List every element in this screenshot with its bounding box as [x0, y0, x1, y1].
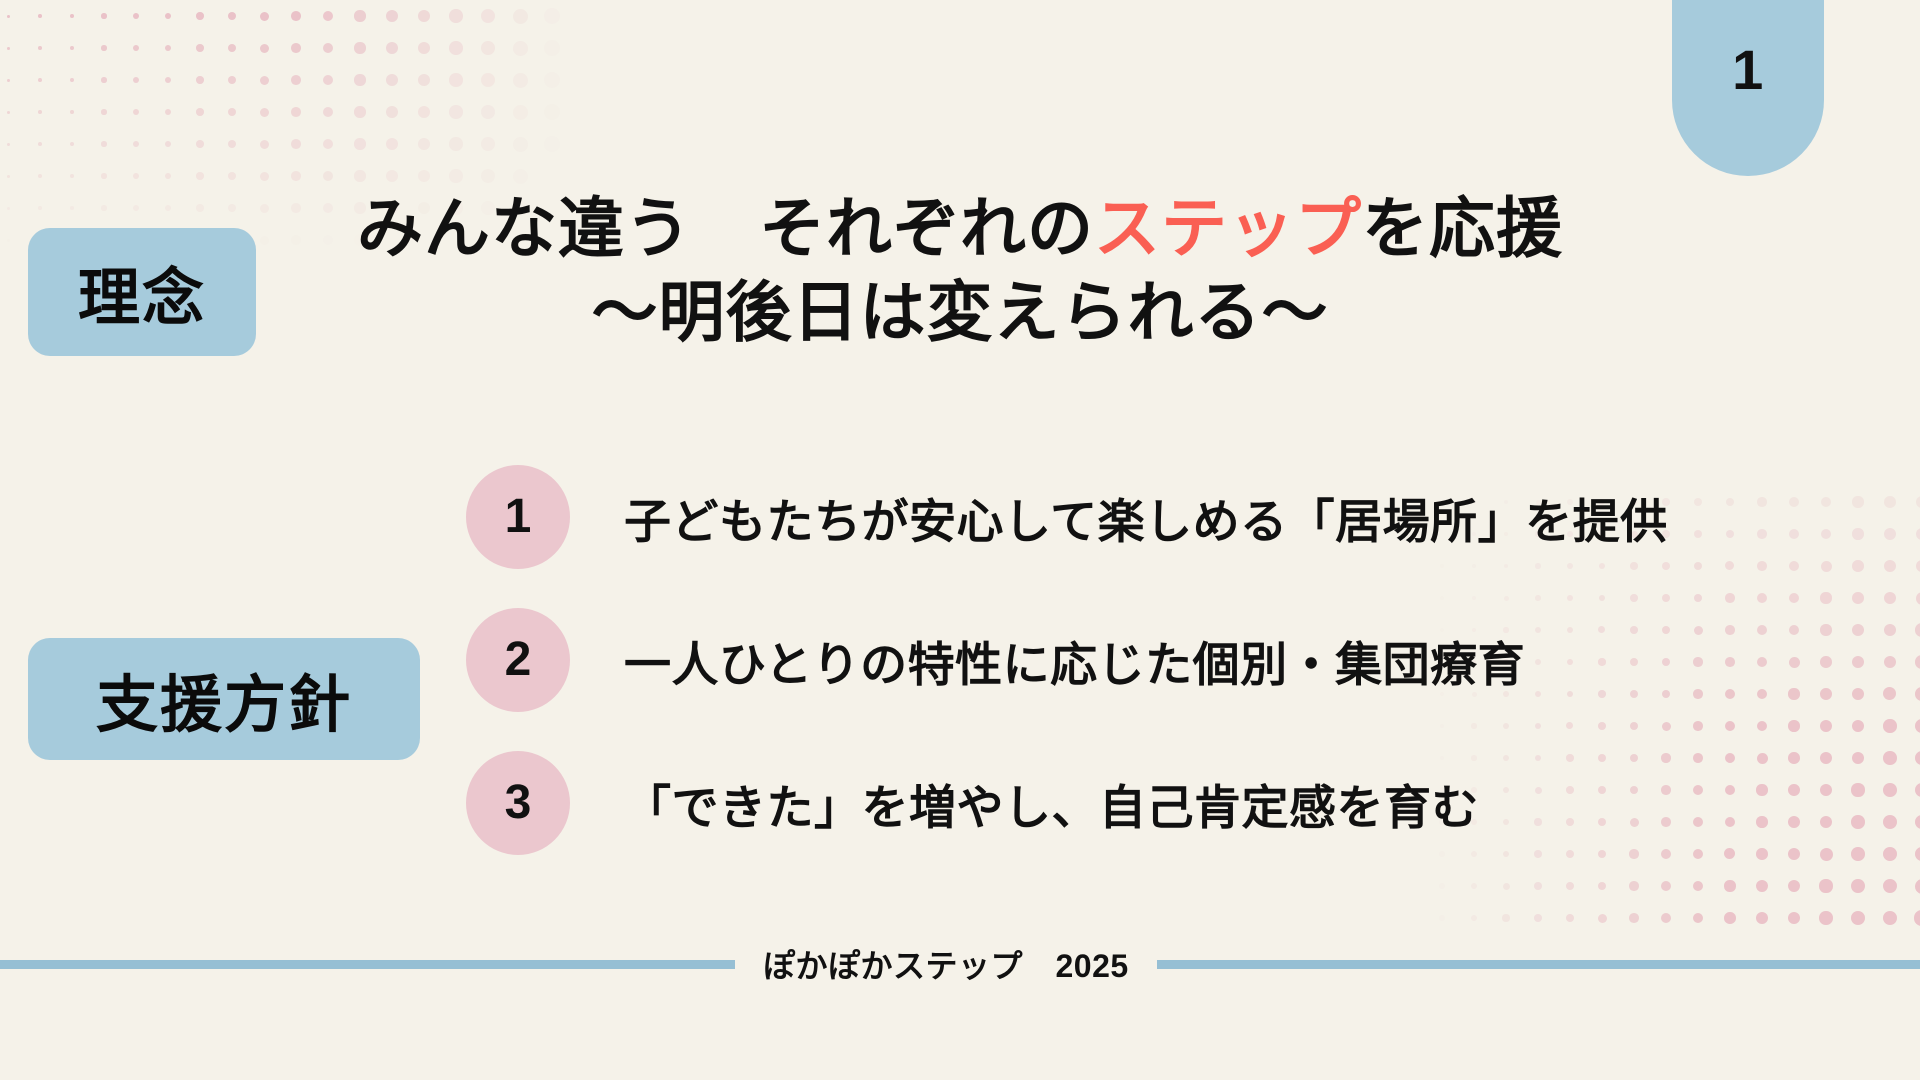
policy-number-badge: 2: [466, 608, 570, 712]
decorative-dot: [1471, 915, 1478, 922]
decorative-dot: [291, 11, 301, 21]
decorative-dot: [513, 105, 528, 120]
decorative-dot: [228, 76, 236, 84]
decorative-dot: [165, 45, 172, 52]
decorative-dot: [323, 139, 334, 150]
decorative-dot: [70, 46, 75, 51]
policy-text: 子どもたちが安心して楽しめる「居場所」を提供: [624, 483, 1668, 552]
decorative-dot: [7, 15, 10, 18]
decorative-dot: [449, 105, 463, 119]
decorative-dot: [165, 13, 172, 20]
decorative-dot: [418, 74, 431, 87]
decorative-dot: [133, 45, 139, 51]
decorative-dot: [481, 137, 495, 151]
decorative-dot: [513, 137, 528, 152]
slide-title: みんな違う それぞれのステップを応援 〜明後日は変えられる〜: [260, 186, 1660, 355]
decorative-dot: [544, 136, 560, 152]
footer-label: ぽかぽかステップ 2025: [735, 941, 1157, 987]
policy-number-badge: 3: [466, 751, 570, 855]
decorative-dot: [354, 170, 365, 181]
slide-canvas: 1 理念 みんな違う それぞれのステップを応援 〜明後日は変えられる〜 支援方針…: [0, 0, 1920, 1080]
decorative-dot: [196, 204, 204, 212]
page-number-label: 1: [1732, 42, 1764, 98]
section-badge-philosophy-label: 理念: [78, 247, 206, 337]
decorative-dot: [449, 41, 463, 55]
decorative-dot: [354, 74, 365, 85]
decorative-dot: [481, 41, 495, 55]
decorative-dot: [196, 44, 204, 52]
decorative-dot: [418, 42, 431, 55]
decorative-dot: [1915, 879, 1920, 894]
decorative-dot: [165, 109, 172, 116]
decorative-dot: [513, 41, 528, 56]
decorative-dot: [165, 77, 172, 84]
decorative-dot: [354, 42, 365, 53]
decorative-dot: [228, 12, 236, 20]
decorative-dot: [70, 14, 75, 19]
title-line-2: 〜明後日は変えられる〜: [260, 270, 1660, 354]
decorative-dot: [38, 174, 42, 178]
decorative-dot: [260, 12, 269, 21]
decorative-dot: [7, 79, 10, 82]
decorative-dot: [1915, 687, 1920, 701]
decorative-dot: [38, 14, 42, 18]
decorative-dot: [1883, 911, 1898, 926]
decorative-dot: [38, 46, 42, 50]
decorative-dot: [1916, 592, 1920, 605]
decorative-dot: [1915, 847, 1920, 862]
decorative-dot: [418, 170, 431, 183]
decorative-dot: [323, 75, 334, 86]
decorative-dot: [449, 169, 463, 183]
decorative-dot: [133, 205, 139, 211]
decorative-dot: [101, 45, 106, 50]
policy-number-label: 2: [505, 636, 532, 684]
decorative-dot: [1534, 914, 1542, 922]
decorative-dot: [386, 42, 398, 54]
decorative-dot: [196, 108, 204, 116]
decorative-dot: [1788, 912, 1801, 925]
footer-rule-right: [1157, 960, 1920, 969]
decorative-dot: [133, 77, 139, 83]
policy-item: 3 「できた」を増やし、自己肯定感を育む: [466, 748, 1886, 858]
decorative-dot: [228, 44, 236, 52]
decorative-dot: [354, 10, 365, 21]
decorative-dot: [70, 174, 75, 179]
decorative-dot: [1724, 912, 1736, 924]
decorative-dot: [418, 138, 431, 151]
decorative-dot: [7, 207, 10, 210]
decorative-dot: [196, 76, 204, 84]
title-line-1-after: を応援: [1362, 191, 1563, 265]
decorative-dot: [323, 107, 334, 118]
decorative-dot: [1916, 496, 1920, 508]
decorative-dot: [70, 78, 75, 83]
decorative-dot: [1851, 911, 1865, 925]
decorative-dot: [228, 108, 236, 116]
decorative-dot: [196, 172, 204, 180]
decorative-dot: [133, 109, 139, 115]
decorative-dot: [323, 43, 334, 54]
decorative-dot: [7, 175, 10, 178]
decorative-dot: [323, 171, 334, 182]
decorative-dot: [38, 78, 42, 82]
decorative-dot: [418, 106, 431, 119]
decorative-dot: [544, 40, 560, 56]
decorative-dot: [1915, 655, 1920, 669]
decorative-dot: [291, 75, 301, 85]
decorative-dot: [513, 9, 528, 24]
decorative-dot: [323, 11, 334, 22]
decorative-dot: [386, 138, 398, 150]
policy-item: 1 子どもたちが安心して楽しめる「居場所」を提供: [466, 462, 1886, 572]
decorative-dot: [196, 12, 204, 20]
decorative-dot: [1566, 914, 1575, 923]
decorative-dot: [513, 169, 528, 184]
decorative-dot: [165, 173, 172, 180]
decorative-dot: [133, 173, 139, 179]
policy-item: 2 一人ひとりの特性に応じた個別・集団療育: [466, 605, 1886, 715]
footer-rule-left: [0, 960, 735, 969]
policy-number-label: 1: [505, 493, 532, 541]
decorative-dot: [354, 138, 365, 149]
decorative-dot: [101, 109, 106, 114]
decorative-dot: [1914, 910, 1920, 925]
decorative-dot: [260, 172, 269, 181]
decorative-dot: [70, 110, 75, 115]
decorative-dot: [101, 141, 106, 146]
decorative-dot: [1915, 815, 1920, 830]
decorative-dot: [133, 141, 139, 147]
page-number-tab: 1: [1672, 0, 1824, 176]
decorative-dot: [544, 8, 560, 24]
title-line-1: みんな違う それぞれのステップを応援: [260, 186, 1660, 270]
decorative-dot: [228, 140, 236, 148]
decorative-dot: [449, 73, 463, 87]
decorative-dot: [101, 205, 106, 210]
decorative-dot: [101, 13, 106, 18]
decorative-dot: [481, 105, 495, 119]
decorative-dot: [291, 43, 301, 53]
decorative-dot: [1819, 911, 1832, 924]
decorative-dot: [291, 139, 301, 149]
decorative-dot: [260, 108, 269, 117]
section-badge-policy-label: 支援方針: [96, 654, 352, 744]
decorative-dot: [1598, 914, 1607, 923]
decorative-dot: [1661, 913, 1671, 923]
decorative-dot: [7, 143, 10, 146]
decorative-dot: [1915, 751, 1920, 765]
decorative-dot: [1629, 913, 1639, 923]
decorative-dot: [386, 106, 398, 118]
decorative-dot: [449, 9, 463, 23]
decorative-dot: [544, 104, 560, 120]
decorative-dot: [481, 169, 495, 183]
title-line-1-before: みんな違う それぞれの: [357, 191, 1094, 265]
decorative-dot: [7, 47, 10, 50]
policy-number-label: 3: [505, 779, 532, 827]
decorative-dot: [1915, 783, 1920, 797]
decorative-dot: [1502, 914, 1509, 921]
decorative-dot: [38, 110, 42, 114]
decorative-dot: [165, 141, 172, 148]
decorative-dot: [386, 74, 398, 86]
decorative-dot: [101, 77, 106, 82]
decorative-dot: [513, 73, 528, 88]
decorative-dot: [291, 107, 301, 117]
decorative-dot: [260, 44, 269, 53]
decorative-dot: [1916, 560, 1920, 573]
decorative-dot: [1439, 915, 1445, 921]
policy-text: 「できた」を増やし、自己肯定感を育む: [624, 769, 1479, 838]
decorative-dot: [1916, 528, 1920, 541]
decorative-dot: [481, 73, 495, 87]
decorative-dot: [1915, 623, 1920, 636]
decorative-dot: [260, 76, 269, 85]
decorative-dot: [291, 171, 301, 181]
decorative-dot: [1756, 912, 1768, 924]
decorative-dot: [38, 206, 42, 210]
decorative-dot: [481, 9, 495, 23]
section-badge-policy: 支援方針: [28, 638, 420, 760]
decorative-dot: [260, 140, 269, 149]
policy-number-badge: 1: [466, 465, 570, 569]
section-badge-philosophy: 理念: [28, 228, 256, 356]
decorative-dot: [1693, 913, 1704, 924]
decorative-dot: [228, 204, 236, 212]
decorative-dot: [7, 111, 10, 114]
decorative-dot: [196, 140, 204, 148]
decorative-dot: [38, 142, 42, 146]
decorative-dot: [165, 205, 172, 212]
title-line-1-accent: ステップ: [1094, 191, 1362, 265]
policy-text: 一人ひとりの特性に応じた個別・集団療育: [624, 626, 1525, 695]
decorative-dot: [133, 13, 139, 19]
decorative-dot: [386, 170, 398, 182]
decorative-dot: [418, 10, 431, 23]
decorative-dot: [386, 10, 398, 22]
decorative-dot: [70, 206, 75, 211]
decorative-dot: [544, 72, 560, 88]
decorative-dot: [101, 173, 106, 178]
slide-footer: ぽかぽかステップ 2025: [0, 938, 1920, 990]
decorative-dot: [7, 239, 10, 242]
decorative-dot: [354, 106, 365, 117]
decorative-dot: [70, 142, 75, 147]
policy-list: 1 子どもたちが安心して楽しめる「居場所」を提供 2 一人ひとりの特性に応じた個…: [466, 462, 1886, 891]
decorative-dot: [228, 172, 236, 180]
decorative-dot: [449, 137, 463, 151]
decorative-dot: [1915, 719, 1920, 733]
